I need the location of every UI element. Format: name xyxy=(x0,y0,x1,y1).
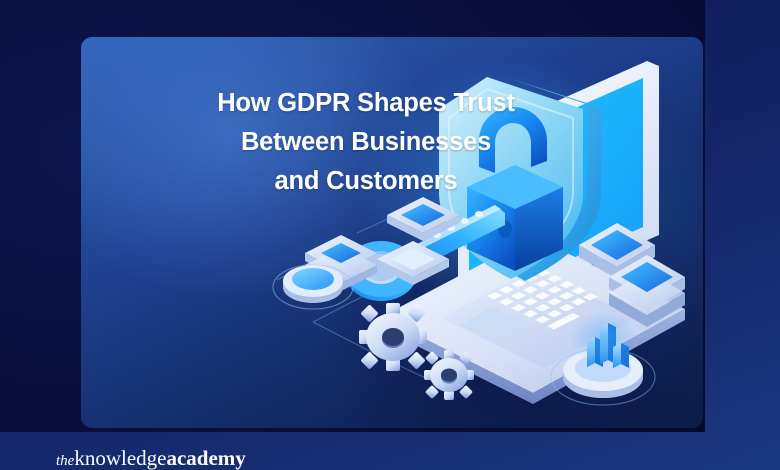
hero-panel: How GDPR Shapes Trust Between Businesses… xyxy=(81,37,703,428)
page-title-line-2: Between Businesses xyxy=(173,123,559,162)
gear-small xyxy=(424,350,474,400)
chart-platform-glow xyxy=(569,311,637,363)
screenshot-canvas: How GDPR Shapes Trust Between Businesses… xyxy=(0,0,780,470)
page-title-line-1: How GDPR Shapes Trust xyxy=(173,84,559,123)
brand-logo[interactable]: theknowledgeacademy xyxy=(56,446,246,470)
page-title: How GDPR Shapes Trust Between Businesses… xyxy=(173,84,559,201)
brand-logo-knowledge: knowledge xyxy=(74,446,166,470)
disc-platform-left-core xyxy=(292,268,334,290)
brand-logo-the: the xyxy=(56,453,74,469)
page-title-line-3: and Customers xyxy=(173,162,559,201)
brand-logo-academy: academy xyxy=(166,446,245,470)
gear-large xyxy=(359,303,427,371)
disc-platform-left xyxy=(273,265,353,309)
